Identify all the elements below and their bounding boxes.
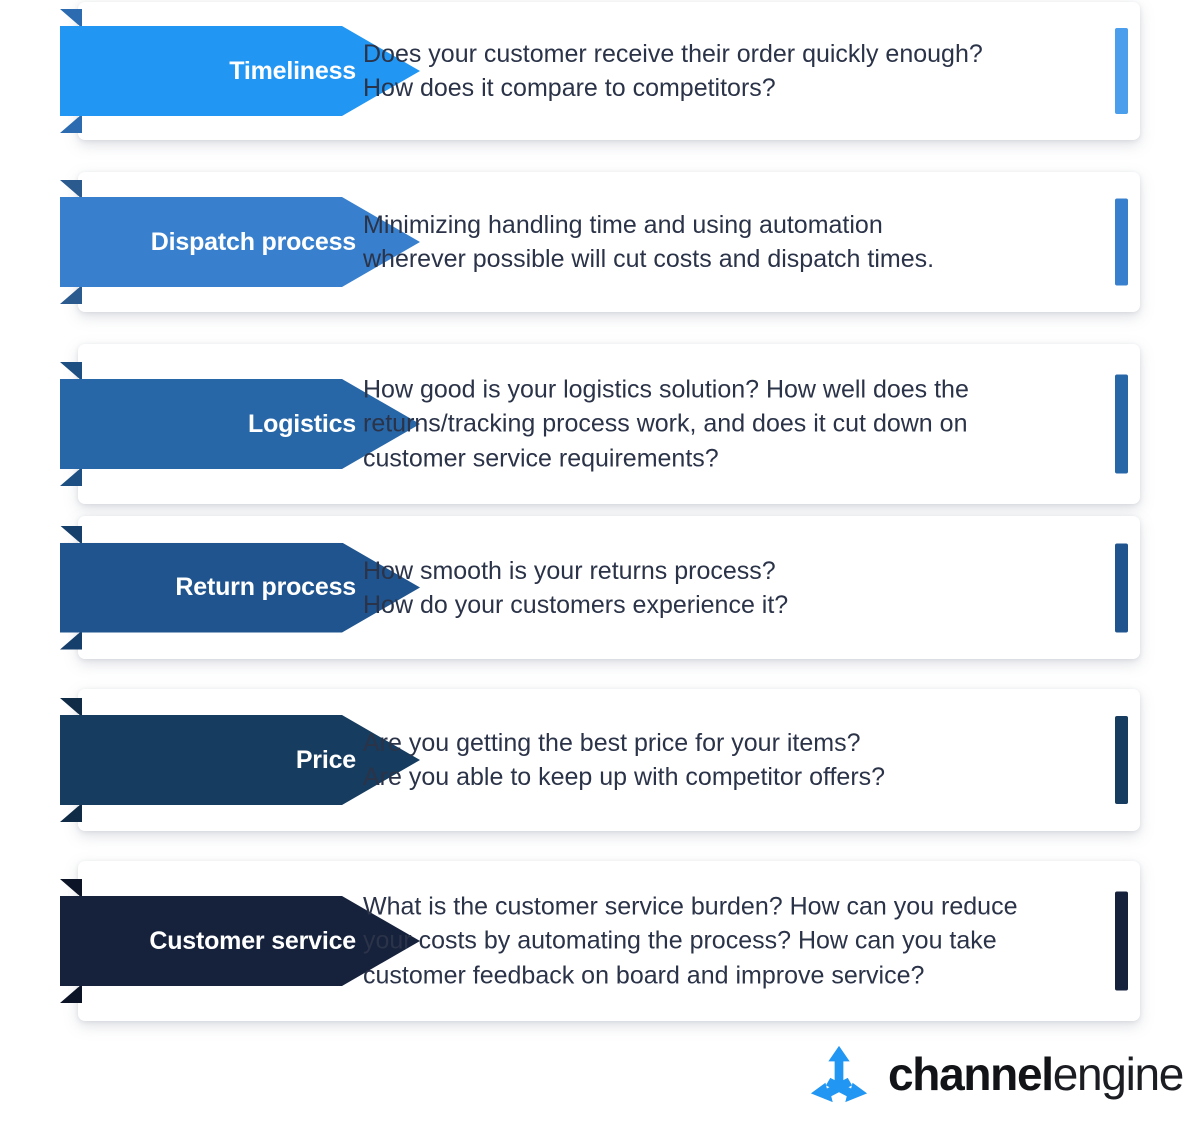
channelengine-logo: channelengine (808, 1043, 1183, 1105)
description-line: returns/tracking process work, and does … (363, 407, 1095, 441)
card-accent-bar (1115, 375, 1128, 474)
card-accent-bar (1115, 892, 1128, 991)
factor-card[interactable]: TimelinessDoes your customer receive the… (78, 2, 1140, 140)
description-line: your costs by automating the process? Ho… (363, 924, 1095, 958)
ribbon-fold-bottom-icon (60, 803, 82, 822)
factor-description: What is the customer service burden? How… (363, 890, 1095, 993)
description-line: Does your customer receive their order q… (363, 37, 1095, 71)
description-line: customer feedback on board and improve s… (363, 958, 1095, 992)
ribbon-fold-bottom-icon (60, 984, 82, 1003)
ribbon-fold-top-icon (60, 698, 82, 717)
factor-description: Minimizing handling time and using autom… (363, 208, 1095, 277)
factor-card[interactable]: LogisticsHow good is your logistics solu… (78, 344, 1140, 504)
factor-description: How smooth is your returns process?How d… (363, 553, 1095, 622)
ribbon-fold-bottom-icon (60, 114, 82, 133)
description-line: Are you able to keep up with competitor … (363, 760, 1095, 794)
factor-card[interactable]: Customer serviceWhat is the customer ser… (78, 861, 1140, 1021)
description-line: How smooth is your returns process? (363, 553, 1095, 587)
description-line: How good is your logistics solution? How… (363, 373, 1095, 407)
ribbon-fold-bottom-icon (60, 467, 82, 486)
description-line: How does it compare to competitors? (363, 71, 1095, 105)
factor-description: How good is your logistics solution? How… (363, 373, 1095, 476)
card-accent-bar (1115, 543, 1128, 632)
channelengine-tri-arrow-icon (808, 1043, 870, 1105)
description-line: customer service requirements? (363, 441, 1095, 475)
ribbon-fold-top-icon (60, 362, 82, 381)
ribbon-fold-bottom-icon (60, 631, 82, 650)
factor-card[interactable]: Return processHow smooth is your returns… (78, 516, 1140, 659)
factor-description: Does your customer receive their order q… (363, 37, 1095, 106)
ribbon-fold-top-icon (60, 526, 82, 545)
factor-description: Are you getting the best price for your … (363, 726, 1095, 795)
factor-card[interactable]: PriceAre you getting the best price for … (78, 689, 1140, 831)
description-line: What is the customer service burden? How… (363, 890, 1095, 924)
ribbon-fold-top-icon (60, 879, 82, 898)
factor-card[interactable]: Dispatch processMinimizing handling time… (78, 172, 1140, 312)
card-accent-bar (1115, 199, 1128, 286)
description-line: wherever possible will cut costs and dis… (363, 242, 1095, 276)
channelengine-wordmark: channelengine (888, 1051, 1183, 1097)
card-accent-bar (1115, 28, 1128, 114)
wordmark-bold: channel (888, 1048, 1053, 1100)
card-accent-bar (1115, 716, 1128, 804)
ribbon-fold-bottom-icon (60, 285, 82, 304)
description-line: Minimizing handling time and using autom… (363, 208, 1095, 242)
description-line: Are you getting the best price for your … (363, 726, 1095, 760)
description-line: How do your customers experience it? (363, 588, 1095, 622)
ribbon-fold-top-icon (60, 180, 82, 199)
infographic-board: TimelinessDoes your customer receive the… (0, 0, 1200, 1140)
ribbon-fold-top-icon (60, 9, 82, 28)
wordmark-light: engine (1053, 1048, 1183, 1100)
